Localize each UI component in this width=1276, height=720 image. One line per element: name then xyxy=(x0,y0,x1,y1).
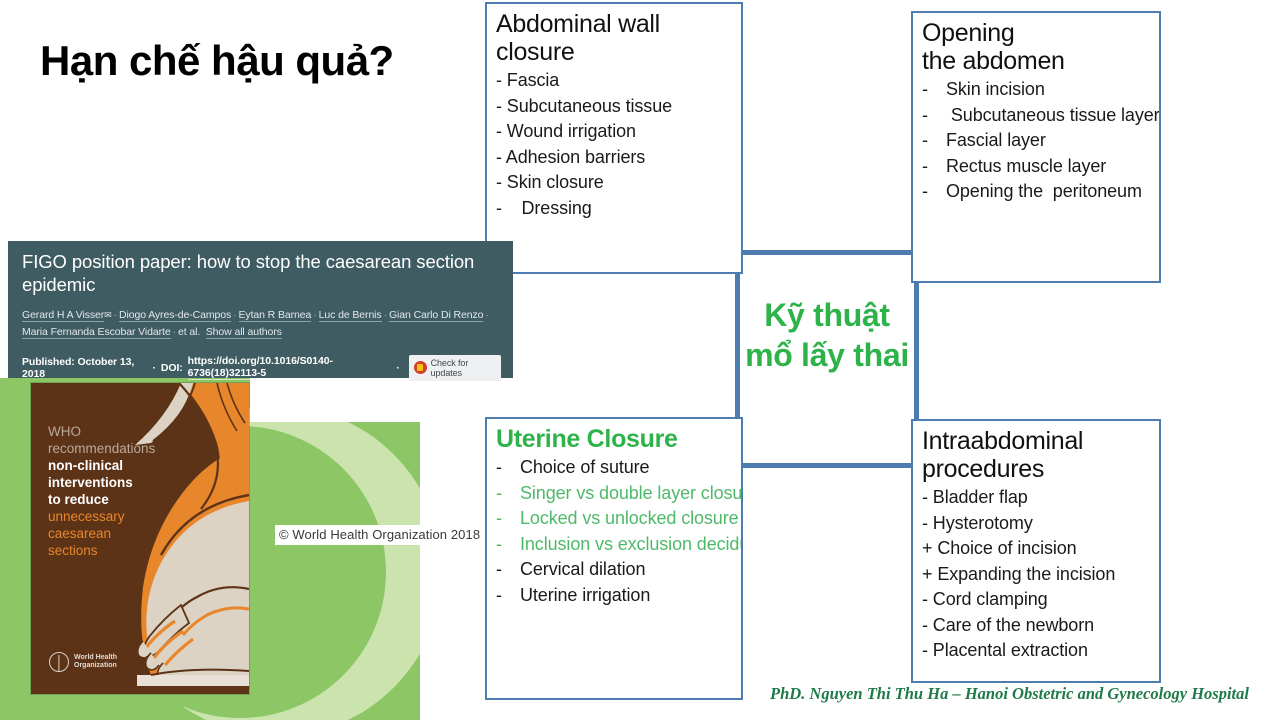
figo-doi-link[interactable]: https://doi.org/10.1016/S0140-6736(18)32… xyxy=(188,355,392,380)
author-separator: · xyxy=(311,309,318,321)
box-uterine-closure[interactable]: Uterine Closure - Choice of suture - Sin… xyxy=(485,417,743,700)
panel-top-clip xyxy=(250,378,420,422)
list-item: - Singer vs double layer closure xyxy=(496,481,732,507)
list-item-text: Opening the peritoneum xyxy=(946,179,1150,205)
box-item-list: - Skin incision - Subcutaneous tissue la… xyxy=(922,77,1150,205)
book-line-toreduce: to reduce xyxy=(48,491,168,508)
list-item: - Locked vs unlocked closure xyxy=(496,506,732,532)
list-item-text: Inclusion vs exclusion decidua xyxy=(520,532,743,558)
center-label-line-2: mổ lấy thai xyxy=(722,335,932,375)
list-item: - Cord clamping xyxy=(922,587,1150,613)
list-item-text: Locked vs unlocked closure xyxy=(520,506,739,532)
check-for-updates-label: Check for updates xyxy=(431,358,494,378)
list-item: - Wound irrigation xyxy=(496,119,732,145)
figo-author[interactable]: Luc de Bernis xyxy=(319,309,382,322)
book-cover-text: WHO recommendations non-clinical interve… xyxy=(48,423,168,559)
list-item: - Hysterotomy xyxy=(922,511,1150,537)
figo-published-date: Published: October 13, 2018 xyxy=(22,356,148,380)
figo-et-al: et al. xyxy=(178,326,200,338)
figo-author[interactable]: Gerard H A Visser xyxy=(22,309,104,322)
list-item: - Uterine irrigation xyxy=(496,583,732,609)
who-logo-line2: Organization xyxy=(74,662,117,670)
list-item: - Fascial layer xyxy=(922,128,1150,154)
list-item: + Expanding the incision xyxy=(922,562,1150,588)
figo-paper-screenshot: FIGO position paper: how to stop the cae… xyxy=(8,241,513,378)
box-intraabdominal-procedures[interactable]: Intraabdominal procedures - Bladder flap… xyxy=(911,419,1161,683)
list-item: + Choice of incision xyxy=(922,536,1150,562)
list-item: - Skin incision xyxy=(922,77,1150,103)
who-logo-text: World Health Organization xyxy=(74,654,117,670)
list-item-text: Subcutaneous tissue layer xyxy=(946,103,1160,129)
list-bullet: - xyxy=(922,128,946,154)
book-line-sections: sections xyxy=(48,542,168,559)
figo-author[interactable]: Gian Carlo Di Renzo xyxy=(389,309,483,322)
pub-separator: · xyxy=(153,362,156,374)
box-heading: Abdominal wall closure xyxy=(496,10,732,66)
check-for-updates-badge[interactable]: Check for updates xyxy=(409,355,501,381)
list-bullet: - xyxy=(496,506,520,532)
figo-author[interactable]: Maria Fernanda Escobar Vidarte xyxy=(22,326,171,339)
box-heading: Opening the abdomen xyxy=(922,19,1150,75)
who-globe-icon xyxy=(49,652,69,672)
list-item-text: Fascial layer xyxy=(946,128,1150,154)
list-item: - Inclusion vs exclusion decidua xyxy=(496,532,732,558)
list-item: - Adhesion barriers xyxy=(496,145,732,171)
list-item: - Bladder flap xyxy=(922,485,1150,511)
figo-author[interactable]: Diogo Ayres-de-Campos xyxy=(119,309,231,322)
heading-line-2: the abdomen xyxy=(922,47,1065,75)
box-opening-the-abdomen[interactable]: Opening the abdomen - Skin incision - Su… xyxy=(911,11,1161,283)
figo-doi-label: DOI: xyxy=(161,362,183,374)
page-title: Hạn chế hậu quả? xyxy=(40,38,460,84)
who-book-cover: WHO recommendations non-clinical interve… xyxy=(31,383,249,694)
who-logo: World Health Organization xyxy=(49,652,117,672)
author-separator: · xyxy=(382,309,389,321)
list-item: - Care of the newborn xyxy=(922,613,1150,639)
heading-line-1: Opening xyxy=(922,19,1014,47)
book-line-caesarean: caesarean xyxy=(48,525,168,542)
who-copyright-label: © World Health Organization 2018 xyxy=(275,525,484,545)
list-bullet: - xyxy=(496,557,520,583)
list-item-text: Singer vs double layer closure xyxy=(520,481,743,507)
slide-canvas: Hạn chế hậu quả? © World Health Organiza… xyxy=(0,0,1276,720)
list-item-text: Cervical dilation xyxy=(520,557,732,583)
list-bullet: - xyxy=(922,77,946,103)
box-abdominal-wall-closure[interactable]: Abdominal wall closure - Fascia - Subcut… xyxy=(485,2,743,274)
book-line-who: WHO xyxy=(48,423,168,440)
connector-bottom xyxy=(735,463,919,468)
list-item: - Placental extraction xyxy=(922,638,1150,664)
box-item-list: - Choice of suture - Singer vs double la… xyxy=(496,455,732,608)
center-diagram-label: Kỹ thuật mổ lấy thai xyxy=(722,295,932,375)
connector-top xyxy=(735,250,919,255)
list-bullet: - xyxy=(922,154,946,180)
list-item: - Subcutaneous tissue layer xyxy=(922,103,1150,129)
list-item: - Dressing xyxy=(496,196,732,222)
figo-author-list: Gerard H A Visser✉·Diogo Ayres-de-Campos… xyxy=(22,307,501,342)
book-line-interventions: interventions xyxy=(48,474,168,491)
crossmark-icon xyxy=(414,361,427,374)
list-item-text: Choice of suture xyxy=(520,455,732,481)
list-bullet: - xyxy=(496,583,520,609)
box-heading: Intraabdominal procedures xyxy=(922,427,1150,483)
list-bullet: - xyxy=(922,179,946,205)
list-bullet: - xyxy=(496,455,520,481)
figo-paper-title: FIGO position paper: how to stop the cae… xyxy=(22,251,501,296)
heading-line-1: Intraabdominal xyxy=(922,427,1083,455)
figo-author[interactable]: Eytan R Barnea xyxy=(239,309,312,322)
list-item-text: Rectus muscle layer xyxy=(946,154,1150,180)
list-bullet: - xyxy=(496,532,520,558)
list-item: - Skin closure xyxy=(496,170,732,196)
envelope-icon[interactable]: ✉ xyxy=(104,310,111,320)
list-item: - Cervical dilation xyxy=(496,557,732,583)
who-logo-line1: World Health xyxy=(74,654,117,662)
list-bullet: - xyxy=(496,481,520,507)
pub-separator: · xyxy=(396,362,399,374)
heading-line-2: closure xyxy=(496,38,575,66)
box-item-list: - Fascia - Subcutaneous tissue - Wound i… xyxy=(496,68,732,221)
list-item: - Rectus muscle layer xyxy=(922,154,1150,180)
center-label-line-1: Kỹ thuật xyxy=(722,295,932,335)
heading-line-1: Abdominal wall xyxy=(496,10,660,38)
list-item: - Opening the peritoneum xyxy=(922,179,1150,205)
footer-credit: PhD. Nguyen Thi Thu Ha – Hanoi Obstetric… xyxy=(770,684,1249,704)
list-item: - Fascia xyxy=(496,68,732,94)
show-all-authors-link[interactable]: Show all authors xyxy=(206,326,282,339)
box-item-list: - Bladder flap - Hysterotomy + Choice of… xyxy=(922,485,1150,664)
list-item-text: Skin incision xyxy=(946,77,1150,103)
list-item-text: Uterine irrigation xyxy=(520,583,732,609)
list-item: - Choice of suture xyxy=(496,455,732,481)
book-line-unnecessary: unnecessary xyxy=(48,508,168,525)
book-line-recommendations: recommendations xyxy=(48,440,168,457)
heading-line-2: procedures xyxy=(922,455,1044,483)
author-separator: · xyxy=(483,309,490,321)
list-bullet: - xyxy=(922,103,946,129)
list-item: - Subcutaneous tissue xyxy=(496,94,732,120)
book-line-nonclinical: non-clinical xyxy=(48,457,168,474)
box-heading: Uterine Closure xyxy=(496,425,732,453)
author-separator: · xyxy=(112,309,119,321)
author-separator: · xyxy=(171,326,178,338)
figo-publication-line: Published: October 13, 2018 · DOI: https… xyxy=(22,355,501,381)
author-separator: · xyxy=(231,309,238,321)
